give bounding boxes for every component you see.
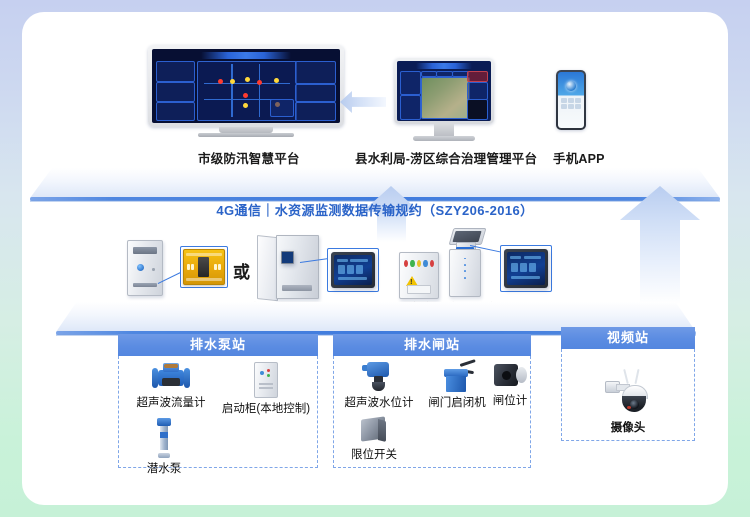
- device-label: 启动柜(本地控制): [217, 400, 315, 416]
- device-label: 摄像头: [562, 419, 694, 435]
- smartphone[interactable]: [556, 70, 586, 130]
- dashboard-panel: [295, 102, 336, 120]
- station-box-video[interactable]: 视频站 摄像头: [561, 327, 695, 441]
- device-ptz-camera[interactable]: 摄像头: [562, 369, 694, 435]
- monitor-screen: [152, 49, 340, 123]
- dashboard-map: [197, 61, 297, 121]
- open-control-cabinet[interactable]: [257, 235, 319, 297]
- device-label: 闸位计: [490, 392, 530, 408]
- device-submersible-pump[interactable]: 潜水泵: [125, 418, 203, 476]
- phone-app-grid: [561, 98, 581, 110]
- pump-data-cabinet[interactable]: [127, 240, 163, 296]
- diagram-canvas: 市级防汛智慧平台 县水利局-涝区综合治理管理平台 手机APP 4G通信｜水资源监…: [0, 0, 750, 517]
- device-limit-switch[interactable]: 限位开关: [337, 416, 411, 462]
- device-gate-position-gauge[interactable]: 闸位计: [490, 360, 530, 408]
- monitor-neck: [434, 124, 454, 136]
- station-title-pump: 排水泵站: [118, 334, 318, 356]
- station-body-video: 摄像头: [561, 349, 695, 441]
- monitor-bezel: [148, 45, 344, 127]
- device-label: 闸门启闭机: [417, 394, 497, 410]
- device-label: 超声波流量计: [125, 394, 217, 410]
- desktop-monitor[interactable]: [394, 58, 494, 142]
- station-title-gate: 排水闸站: [333, 334, 531, 356]
- dashboard-panel: [156, 82, 196, 102]
- device-label: 超声波水位计: [337, 394, 421, 410]
- station-box-pump[interactable]: 排水泵站 超声波流量计 启动柜(本地控制): [118, 334, 318, 468]
- station-body-gate: 超声波水位计 闸门启闭机 闸位计 限位开关: [333, 356, 531, 468]
- monitor-foot: [198, 133, 294, 137]
- platform-label-app: 手机APP: [553, 148, 605, 167]
- hmi-panel-callout-pump: [327, 248, 379, 292]
- dashboard-title-bar: [201, 52, 291, 59]
- device-ultrasonic-flowmeter[interactable]: 超声波流量计: [125, 362, 217, 410]
- plc-kiosk-terminal[interactable]: [443, 228, 487, 297]
- platform-label-county: 县水利局-涝区综合治理管理平台: [355, 148, 537, 167]
- dashboard-panel: [156, 102, 196, 120]
- monitor-bezel: [394, 58, 494, 124]
- device-label: 限位开关: [337, 446, 411, 462]
- or-separator: 或: [233, 258, 250, 283]
- wide-dashboard-monitor[interactable]: [148, 45, 344, 140]
- hmi-panel: [331, 252, 375, 288]
- hmi-panel-callout-gate: [500, 245, 552, 292]
- monitor-foot: [413, 136, 475, 141]
- station-box-gate[interactable]: 排水闸站 超声波水位计 闸门启闭机 闸位计: [333, 334, 531, 468]
- device-ultrasonic-level-meter[interactable]: 超声波水位计: [337, 360, 421, 410]
- protocol-label: 4G通信｜水资源监测数据传输规约（SZY206-2016）: [0, 200, 750, 219]
- device-gate-hoist[interactable]: 闸门启闭机: [417, 360, 497, 410]
- phone-screen: [558, 72, 584, 128]
- dashboard-panel: [295, 61, 336, 84]
- rtu-module-callout: [180, 246, 228, 288]
- dashboard-panel: [156, 61, 196, 82]
- hmi-panel: [504, 249, 548, 288]
- device-starter-cabinet[interactable]: 启动柜(本地控制): [217, 362, 315, 416]
- plc-control-panel[interactable]: [399, 252, 439, 299]
- platform-label-city: 市级防汛智慧平台: [198, 148, 300, 167]
- device-label: 潜水泵: [125, 460, 203, 476]
- dashboard-panel: [295, 84, 336, 102]
- station-title-video: 视频站: [561, 327, 695, 349]
- globe-icon: [566, 81, 576, 91]
- station-body-pump: 超声波流量计 启动柜(本地控制) 潜水泵: [118, 356, 318, 468]
- monitor-screen: [397, 61, 491, 121]
- rtu-module: [183, 249, 225, 285]
